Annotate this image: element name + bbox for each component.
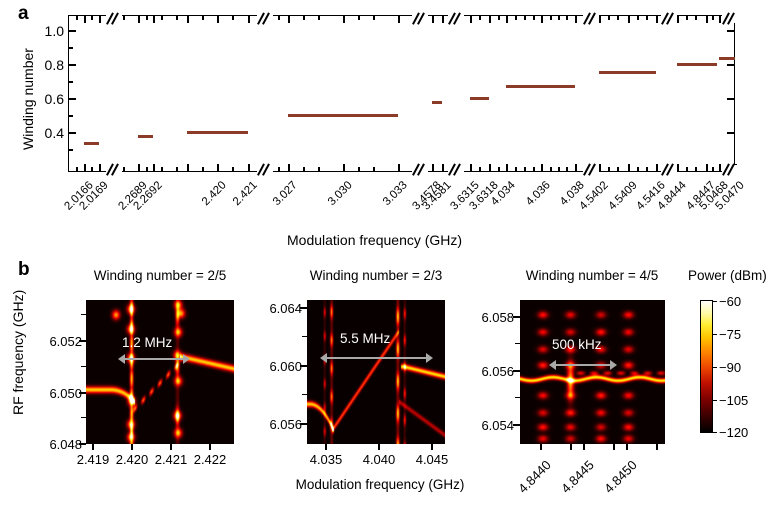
colorbar-title: Power (dBm) [688,268,767,283]
map3-ytick-minor [515,397,520,398]
map3-ytick-mark [513,316,520,318]
map1-xtick-1: 2.420 [110,453,154,466]
panel-a: a Winding number 0.4 0.6 0.8 1.0 2.01662… [0,0,774,255]
map1-xtick-mark [209,444,211,450]
colorbar-tick [713,400,717,401]
map2-annotation-arrow [320,353,433,363]
panel-b-y-axis-title: RF frequency (GHz) [10,290,26,415]
map3-xtick-minor [570,444,572,450]
map3-heatmap[interactable] [520,300,665,444]
colorbar-gradient [700,300,713,433]
figure-root: a Winding number 0.4 0.6 0.8 1.0 2.01662… [0,0,774,505]
map2-xtick-0: 4.035 [304,453,348,466]
map3-ytick-minor [515,343,520,344]
map1-xtick-3: 2.422 [188,453,232,466]
map3-xtick-mark [583,444,585,450]
map2-ytick-1: 6.060 [254,360,302,373]
map3-annotation-arrow [549,360,617,370]
panel-b-x-axis-title: Modulation frequency (GHz) [285,477,475,492]
map1-ytick-mark [79,392,86,394]
panel-a-x-axis-title: Modulation frequency (GHz) [287,232,462,248]
hm3-canvas [520,300,665,444]
map2-xtick-1: 4.040 [357,453,401,466]
map1-ytick-minor [81,314,86,315]
colorbar-label-1: −75 [719,328,741,341]
map2-ytick-minor [302,394,307,395]
map2-ytick-2: 6.064 [254,302,302,315]
panel-b-label: b [18,260,30,279]
map1-ytick-0: 6.048 [34,438,82,451]
hm2-canvas [307,300,445,444]
map1-xtick-2: 2.421 [149,453,193,466]
map2-ytick-mark [300,307,307,309]
map3-xtick-mark [626,444,628,450]
map1-ytick-2: 6.052 [34,335,82,348]
panel-b: b RF frequency (GHz) Winding number = 2/… [0,255,774,505]
map1-ytick-minor [81,417,86,418]
colorbar-tick [713,334,717,335]
map3-title: Winding number = 4/5 [502,268,682,283]
map1-ytick-1: 6.050 [34,387,82,400]
colorbar-tick [713,367,717,368]
panel-a-xtick-label-6: 3.027 [257,180,300,223]
map1-xtick-mark [92,444,94,450]
map3-xtick-1: 4.8445 [556,458,596,498]
map2-ytick-mark [300,423,307,425]
panel-a-x-tick-labels: 2.01662.01692.26892.26922.4202.4213.0273… [0,0,774,255]
map1-title: Winding number = 2/5 [70,268,250,283]
map3-ytick-mark [513,370,520,372]
map3-xtick-mark [540,444,542,450]
map1-annotation-label: 1.2 MHz [122,335,172,350]
map2-title: Winding number = 2/3 [286,268,466,283]
map2-xtick-mark [325,444,327,450]
panel-a-xtick-label-7: 3.030 [312,180,355,223]
map3-xtick-0: 4.8440 [513,458,553,498]
map2-xtick-2: 4.045 [410,453,454,466]
map3-ytick-2: 6.058 [466,311,514,324]
colorbar-tick [713,301,717,302]
map2-xtick-mark [378,444,380,450]
map2-annotation-label: 5.5 MHz [340,331,390,346]
map2-ytick-minor [302,336,307,337]
map3-xtick-minor [656,444,658,450]
map3-ytick-1: 6.056 [466,365,514,378]
colorbar-label-4: −120 [719,426,748,439]
map3-xtick-2: 4.8450 [599,458,639,498]
map1-ytick-mark [79,340,86,342]
colorbar-label-0: −60 [719,295,741,308]
hm1-canvas [86,300,234,444]
map2-xtick-mark [431,444,433,450]
map2-ytick-mark [300,365,307,367]
map1-xtick-mark [131,444,133,450]
map1-xtick-0: 2.419 [71,453,115,466]
map1-heatmap[interactable] [86,300,234,444]
map1-ytick-minor [81,366,86,367]
colorbar-tick [713,432,717,433]
map3-annotation-label: 500 kHz [552,337,602,352]
map1-ytick-mark [79,443,86,445]
map2-heatmap[interactable] [307,300,445,444]
map1-annotation-arrow [118,354,190,364]
map3-xtick-minor [613,444,615,450]
map1-xtick-mark [170,444,172,450]
colorbar-label-3: −105 [719,394,748,407]
map3-ytick-mark [513,424,520,426]
map2-ytick-0: 6.056 [254,418,302,431]
map3-ytick-0: 6.054 [466,419,514,432]
colorbar-label-2: −90 [719,361,741,374]
